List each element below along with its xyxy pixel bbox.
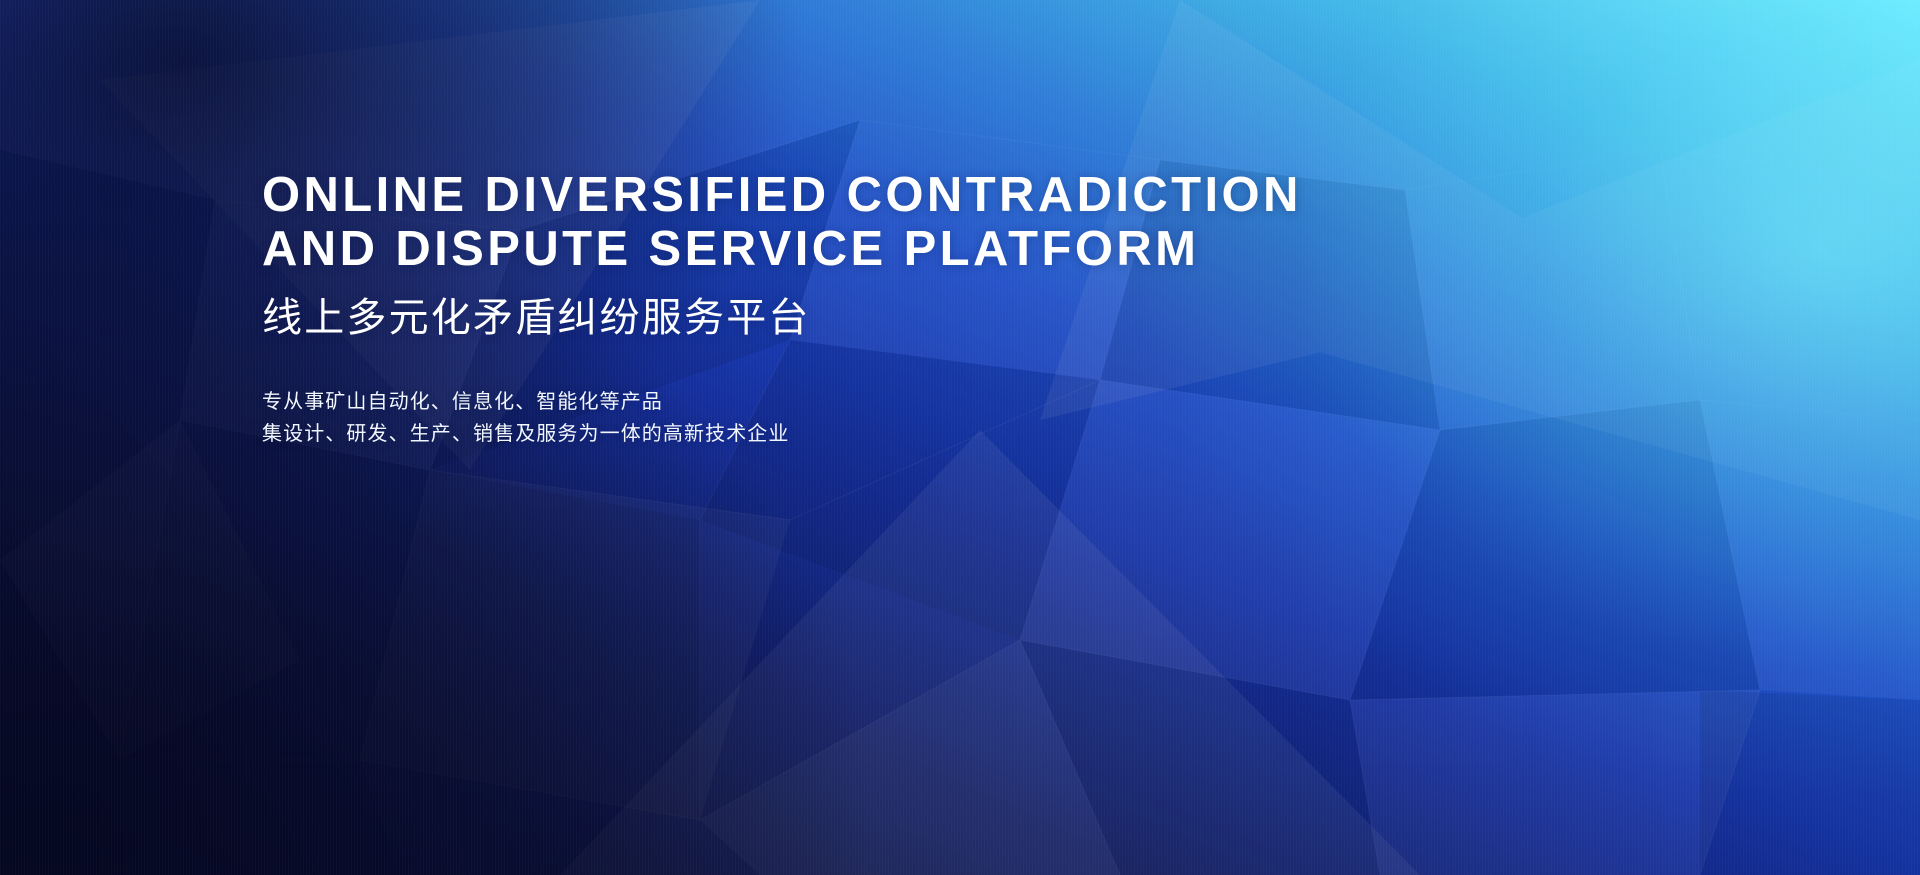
hero-banner: ONLINE DIVERSIFIED CONTRADICTION AND DIS…	[0, 0, 1920, 875]
description-line-2: 集设计、研发、生产、销售及服务为一体的高新技术企业	[262, 418, 1662, 450]
hero-description: 专从事矿山自动化、信息化、智能化等产品 集设计、研发、生产、销售及服务为一体的高…	[262, 386, 1662, 450]
hero-headline-english: ONLINE DIVERSIFIED CONTRADICTION AND DIS…	[262, 168, 1662, 276]
hero-content: ONLINE DIVERSIFIED CONTRADICTION AND DIS…	[262, 168, 1662, 450]
description-line-1: 专从事矿山自动化、信息化、智能化等产品	[262, 386, 1662, 418]
hero-subheadline-chinese: 线上多元化矛盾纠纷服务平台	[262, 295, 1662, 341]
